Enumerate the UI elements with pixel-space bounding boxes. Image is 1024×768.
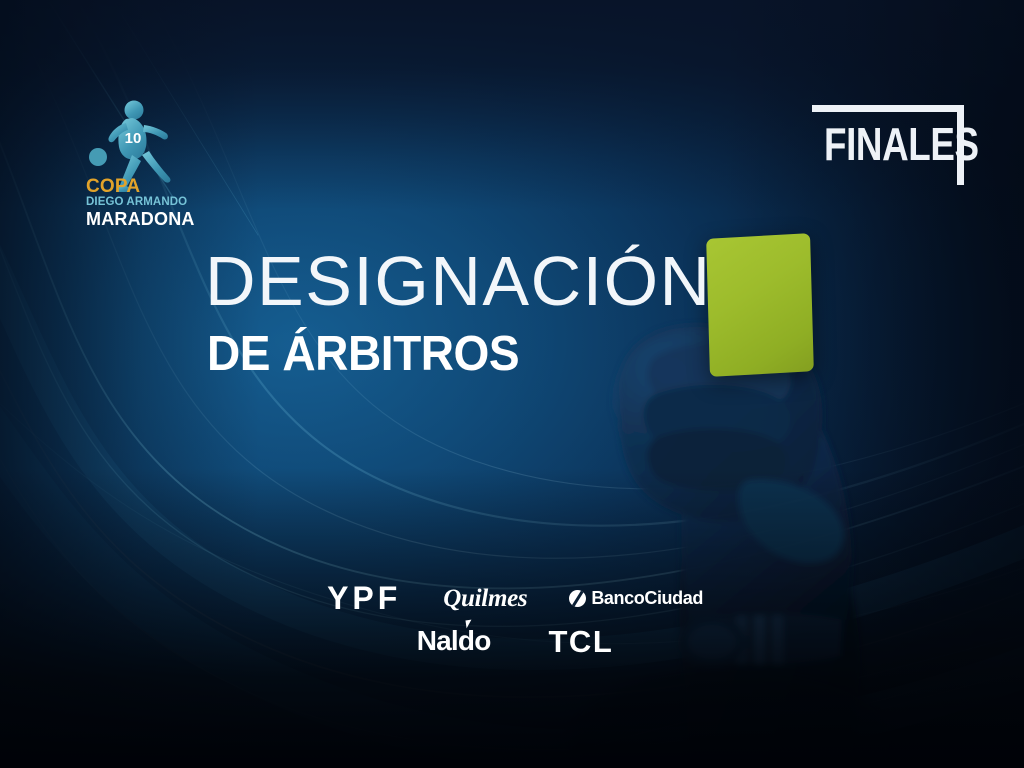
finales-label: FINALES: [824, 121, 979, 167]
sponsor-row-two: Naldo TCL: [320, 622, 710, 660]
headline-designacion: DESIGNACIÓN: [205, 246, 825, 316]
copa-maradona-logo: 10 COPA DIEGO ARMANDO MARADONA: [78, 95, 198, 230]
naldo-tick-icon: [465, 620, 472, 629]
logo-line-copa: COPA: [86, 177, 196, 196]
jersey-number: 10: [125, 130, 142, 147]
sponsor-logo-naldo: Naldo: [417, 627, 491, 655]
sponsor-label-bancociudad: BancoCiudad: [591, 589, 703, 607]
banco-ciudad-circle-icon: [569, 590, 586, 607]
page-title: DESIGNACIÓN DE ÁRBITROS: [205, 246, 825, 379]
copa-maradona-wordmark: COPA DIEGO ARMANDO MARADONA: [86, 177, 196, 228]
sponsor-logo-quilmes: Quilmes: [443, 586, 527, 611]
sponsor-logo-ypf: YPF: [327, 582, 401, 614]
sponsor-label-naldo: Naldo: [417, 625, 491, 656]
sponsor-logo-tcl: TCL: [549, 626, 614, 657]
logo-line-diego-armando: DIEGO ARMANDO: [86, 197, 196, 209]
poster-canvas: 10 COPA DIEGO ARMANDO MARADONA FINALES D…: [0, 0, 1024, 768]
finales-badge: FINALES: [812, 105, 964, 185]
finales-bracket-top: [812, 105, 958, 112]
sponsor-logo-bancociudad: BancoCiudad: [569, 589, 703, 607]
headline-de-arbitros: DE ÁRBITROS: [207, 330, 788, 379]
sponsor-row-one: YPF Quilmes BancoCiudad: [320, 578, 710, 618]
sponsor-bar: YPF Quilmes BancoCiudad Naldo TCL: [320, 578, 710, 660]
logo-line-maradona: MARADONA: [86, 210, 196, 228]
